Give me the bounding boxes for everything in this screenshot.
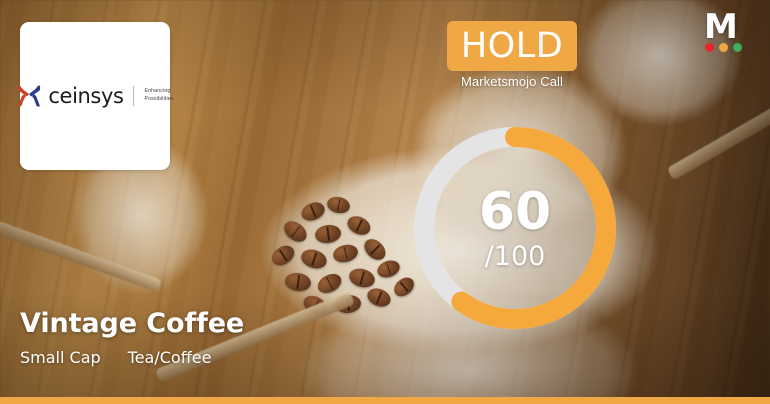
marketsmojo-logo: M (704, 14, 752, 54)
score-gauge-svg (405, 118, 625, 338)
recommendation-label: HOLD (461, 29, 563, 64)
bottom-accent-bar (0, 397, 770, 404)
logo-divider (133, 86, 134, 106)
ceinsys-x-mark-icon (16, 83, 42, 109)
logo-lockup: ceinsys Enhancing Possibilities (16, 83, 173, 109)
company-logo-card: ceinsys Enhancing Possibilities (20, 22, 170, 170)
tagline-line-1: Enhancing (145, 88, 171, 94)
tagline-line-2: Possibilities (145, 96, 174, 102)
score-gauge: 60 /100 (405, 118, 625, 338)
marketsmojo-letter-icon: M (704, 14, 752, 41)
market-cap-label: Small Cap (20, 348, 101, 367)
sector-label: Tea/Coffee (128, 348, 212, 367)
dot-amber-icon (719, 43, 728, 52)
stock-name: Vintage Coffee (20, 308, 244, 339)
stock-meta: Small Cap Tea/Coffee (20, 348, 211, 367)
dot-green-icon (733, 43, 742, 52)
recommendation-caption: Marketsmojo Call (447, 74, 577, 89)
stock-summary-card: ceinsys Enhancing Possibilities HOLD Mar… (0, 0, 770, 404)
ceinsys-tagline: Enhancing Possibilities (145, 88, 174, 103)
dot-red-icon (705, 43, 714, 52)
ceinsys-wordmark: ceinsys (48, 86, 123, 107)
recommendation-badge: HOLD (447, 21, 577, 71)
